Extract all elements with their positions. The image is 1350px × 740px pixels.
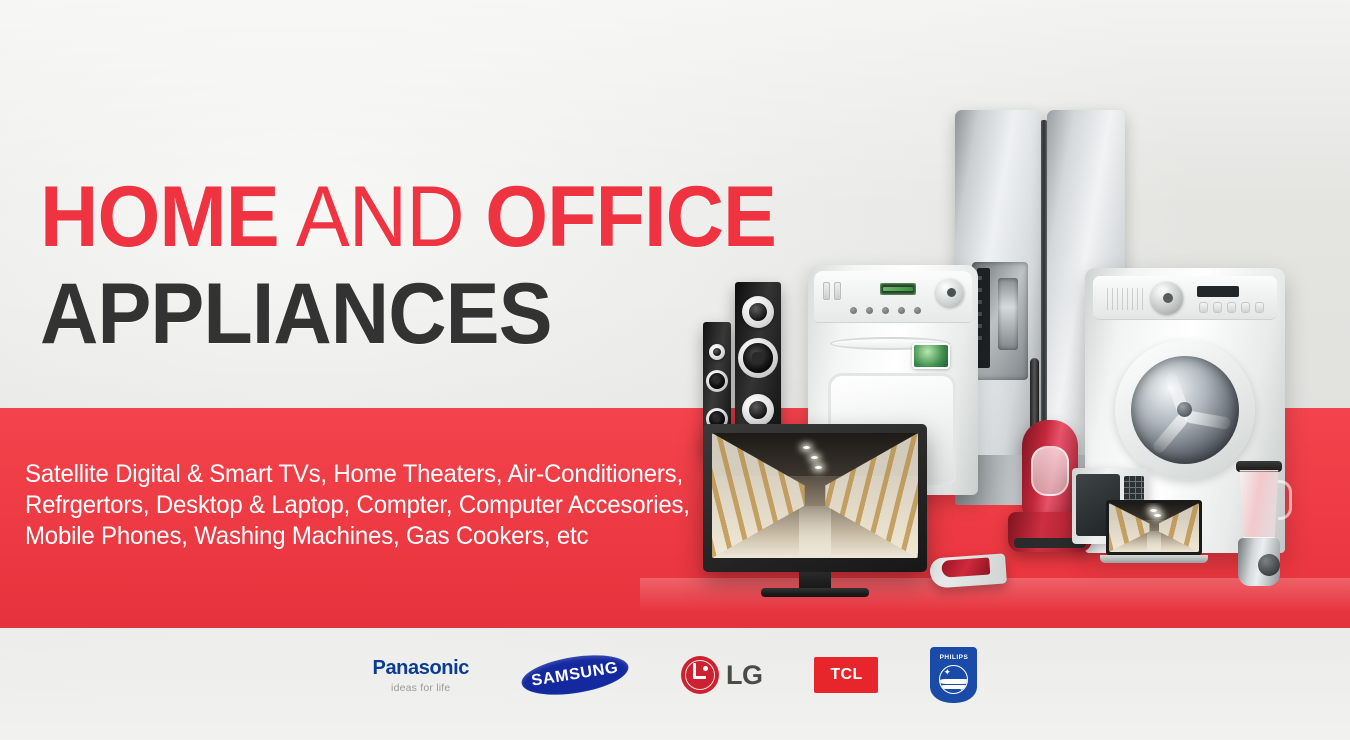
panasonic-tagline: ideas for life	[391, 682, 450, 694]
washer-button	[1241, 302, 1250, 313]
warehouse-aisle-image	[1109, 503, 1199, 552]
ceiling-light	[1154, 514, 1161, 517]
laptop-screen	[1106, 500, 1202, 555]
washer-button	[898, 307, 905, 314]
drum-blade	[1151, 412, 1190, 455]
category-line: Mobile Phones, Washing Machines, Gas Coo…	[25, 521, 690, 552]
blender-speed-knob	[1258, 554, 1280, 576]
washer-control-panel	[1093, 276, 1277, 320]
samsung-wordmark: SAMSUNG	[530, 659, 619, 690]
upright-vacuum-cleaner	[1022, 420, 1078, 520]
dispenser-nozzle	[998, 278, 1018, 350]
panasonic-wordmark: Panasonic	[373, 657, 469, 680]
samsung-logo: SAMSUNG	[519, 649, 631, 701]
philips-star-icon: ✦	[943, 668, 951, 677]
lg-mouth	[693, 676, 706, 679]
warehouse-aisle-floor	[1147, 531, 1161, 552]
warehouse-aisle-image	[712, 433, 918, 558]
lg-ring	[685, 660, 715, 690]
ceiling-light	[811, 456, 818, 459]
speaker-midrange	[742, 394, 774, 426]
washer-button	[1255, 302, 1264, 313]
washer-door-glass	[1131, 356, 1239, 464]
philips-wordmark: PHILIPS	[930, 654, 977, 661]
vacuum-dust-canister	[1031, 446, 1069, 496]
vacuum-handle	[1030, 358, 1039, 430]
detergent-slot	[823, 282, 830, 300]
washer-button	[914, 307, 921, 314]
washer-program-dial	[1151, 282, 1183, 314]
laptop-computer	[1100, 500, 1208, 566]
philips-logo: PHILIPS ✦ ✦	[930, 647, 977, 703]
philips-shield-emblem: ✦ ✦	[939, 665, 968, 694]
category-line: Satellite Digital & Smart TVs, Home Thea…	[25, 459, 690, 490]
washer-lcd-display	[880, 283, 916, 295]
drum-hub	[1177, 402, 1192, 417]
tv-bezel	[703, 424, 927, 572]
promo-banner: HOME AND OFFICE APPLIANCES Satellite Dig…	[0, 0, 1350, 740]
detergent-slot	[834, 282, 841, 300]
tcl-logo: TCL	[814, 657, 878, 693]
blender	[1228, 452, 1290, 592]
ceiling-light	[815, 466, 822, 469]
product-category-list: Satellite Digital & Smart TVs, Home Thea…	[25, 459, 690, 552]
program-tick-marks	[1107, 288, 1145, 310]
blender-jar	[1236, 470, 1282, 538]
headline-word-and: AND	[296, 169, 464, 265]
flat-screen-television	[703, 424, 927, 604]
philips-star-icon: ✦	[957, 684, 965, 693]
washer-button	[850, 307, 857, 314]
page-title: HOME AND OFFICE APPLIANCES	[40, 176, 823, 355]
headline-word-office: OFFICE	[485, 169, 776, 265]
washer-control-panel	[814, 271, 972, 323]
tcl-wordmark: TCL	[830, 666, 862, 684]
lg-face-icon	[681, 656, 719, 694]
lg-logo: LG	[681, 656, 763, 694]
panasonic-logo: Panasonic ideas for life	[373, 657, 469, 694]
washer-button	[882, 307, 889, 314]
refrigerator-water-dispenser	[972, 262, 1028, 380]
lg-eye	[703, 666, 708, 671]
product-cluster	[0, 0, 1350, 740]
washer-button	[866, 307, 873, 314]
speaker-midrange	[706, 370, 728, 392]
headline-line-1: HOME AND OFFICE	[40, 176, 776, 259]
washer-display	[1197, 286, 1239, 297]
headline-line-2: APPLIANCES	[40, 273, 776, 356]
lg-wordmark: LG	[726, 660, 763, 691]
blender-motor-base	[1238, 538, 1280, 586]
washer-program-dial	[936, 279, 964, 307]
brand-logo-strip: Panasonic ideas for life SAMSUNG LG TCL …	[0, 636, 1350, 714]
washer-button	[1199, 302, 1208, 313]
ceiling-light	[803, 446, 810, 449]
steam-iron	[929, 553, 1007, 588]
washer-button	[1213, 302, 1222, 313]
tv-stand-base	[761, 588, 869, 597]
washer-button	[1227, 302, 1236, 313]
eco-badge	[912, 343, 950, 369]
category-line: Refrgertors, Desktop & Laptop, Compter, …	[25, 490, 690, 521]
dispenser-control-panel	[977, 268, 990, 368]
headline-word-home: HOME	[40, 169, 279, 265]
warehouse-aisle-floor	[799, 506, 832, 559]
laptop-keyboard-base	[1100, 555, 1208, 563]
blender-handle	[1278, 480, 1292, 520]
refrigerator-door-seam	[1041, 120, 1047, 450]
